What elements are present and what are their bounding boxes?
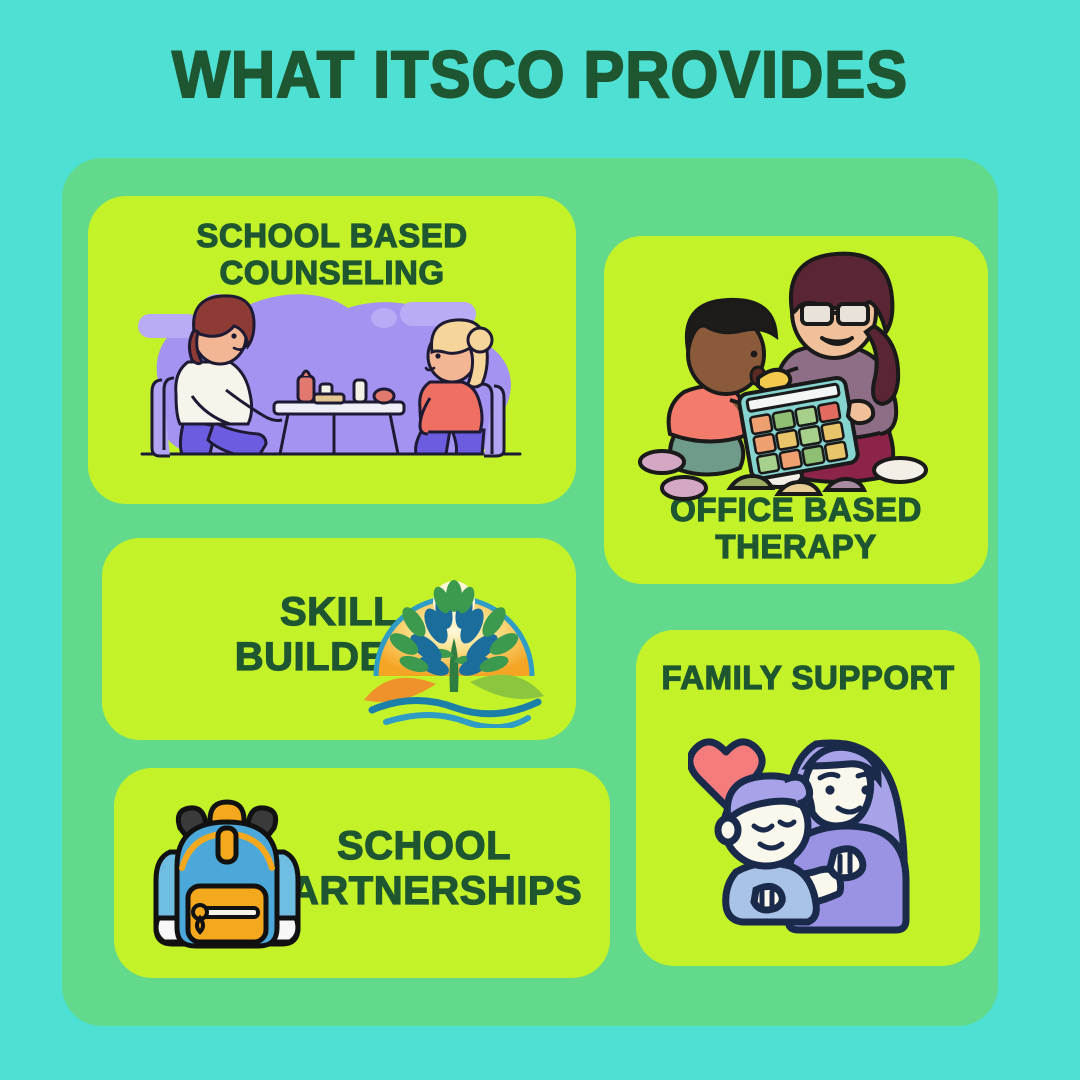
card-school-partnerships[interactable]: SCHOOL PARTNERSHIPS [114, 768, 610, 978]
card-skill-builders[interactable]: SKILL BUILDERS [102, 538, 576, 740]
therapist-and-child-with-aac-board-illustration [618, 250, 974, 512]
card-office-based-therapy[interactable]: OFFICE BASED THERAPY [604, 236, 988, 584]
backpack-icon [136, 782, 318, 964]
page-title: WHAT ITSCO PROVIDES [38, 36, 1042, 112]
card-school-based-counseling[interactable]: SCHOOL BASED COUNSELING [88, 196, 576, 504]
card-family-support[interactable]: FAMILY SUPPORT [636, 630, 980, 966]
poster-canvas: WHAT ITSCO PROVIDES SCHOOL BASED COUNSEL… [0, 0, 1080, 1080]
parent-holding-child-with-heart-illustration [688, 708, 932, 952]
tree-sun-waves-logo [364, 550, 544, 728]
counselor-and-child-at-table-illustration [122, 274, 542, 484]
card-label-family-support: FAMILY SUPPORT [636, 660, 980, 697]
